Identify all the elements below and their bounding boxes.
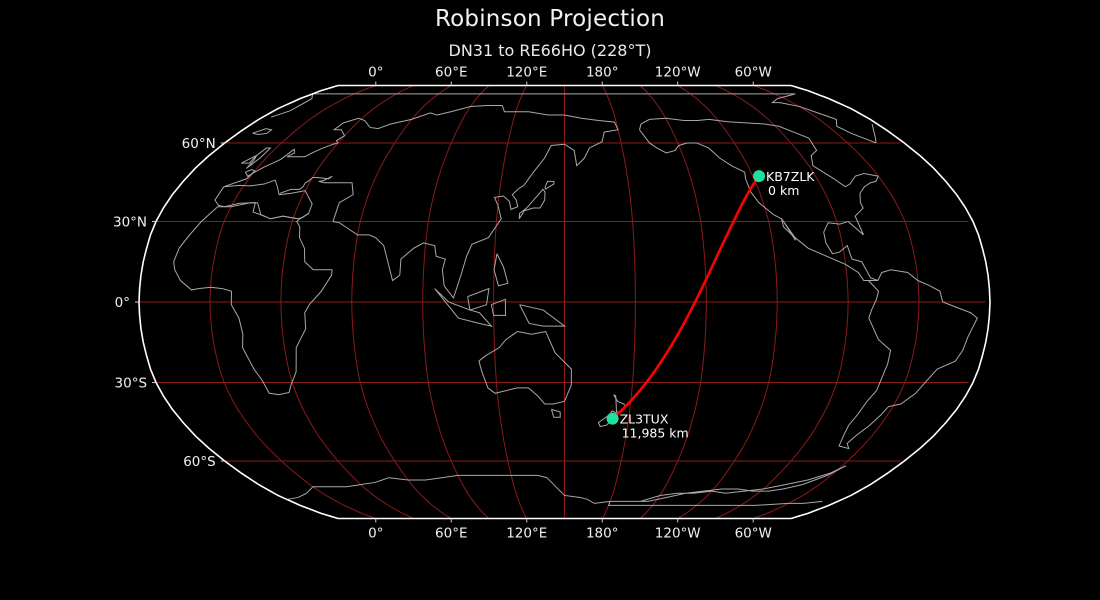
marker-callsign-1: ZL3TUX [620, 412, 669, 427]
station-markers[interactable]: KB7ZLK0 kmZL3TUX11,985 km [607, 169, 816, 440]
lat-label-0: 60°N [182, 136, 216, 152]
marker-distance-1: 11,985 km [622, 426, 689, 441]
graticule-group [139, 86, 985, 519]
marker-dot-kb7zlk[interactable] [753, 170, 765, 182]
lat-label-1: 30°N [113, 214, 147, 230]
lon-label-top-0: 60°E [435, 65, 467, 81]
marker-distance-0: 0 km [768, 183, 799, 198]
lon-label-bottom-1: 120°E [506, 526, 547, 542]
lat-label-3: 30°S [115, 376, 148, 392]
marker-callsign-0: KB7ZLK [766, 169, 815, 184]
coastline-group [174, 94, 978, 506]
lon-label-top-1: 120°E [506, 65, 547, 81]
lat-label-4: 60°S [183, 454, 216, 470]
lon-label-bottom-3: 120°W [655, 526, 701, 542]
robinson-map-svg: 60°E60°E120°E120°E180°180°120°W120°W60°W… [0, 0, 1100, 600]
marker-dot-zl3tux[interactable] [607, 413, 619, 425]
lon-label-top-2: 180° [586, 65, 619, 81]
map-figure: Robinson Projection DN31 to RE66HO (228°… [0, 0, 1100, 600]
lon-label-bottom-2: 180° [586, 526, 619, 542]
lon-label-bottom-4: 60°W [735, 526, 772, 542]
lon-label-bottom-5: 0° [368, 526, 383, 542]
lon-label-bottom-0: 60°E [435, 526, 467, 542]
lat-label-2: 0° [115, 295, 130, 311]
lon-label-top-4: 60°W [735, 65, 772, 81]
lon-label-top-5: 0° [368, 65, 383, 81]
axis-labels: 60°E60°E120°E120°E180°180°120°W120°W60°W… [113, 65, 772, 542]
lon-label-top-3: 120°W [655, 65, 701, 81]
